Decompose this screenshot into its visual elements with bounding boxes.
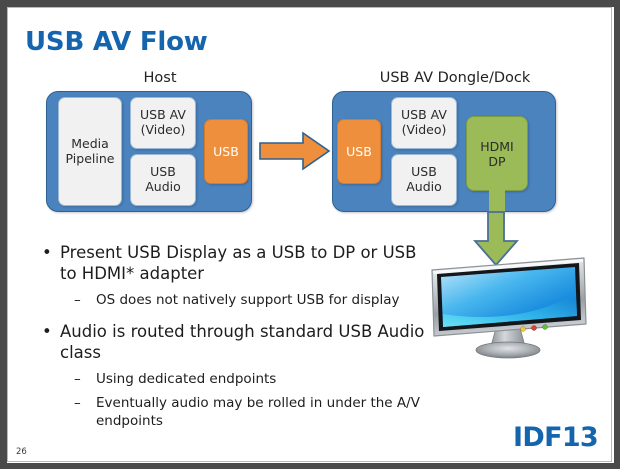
- bullet-dash-icon: –: [74, 395, 81, 413]
- dongle-av-line2: (Video): [402, 122, 447, 137]
- hdmi-line2: DP: [488, 154, 505, 169]
- hdmi-line1: HDMI: [480, 139, 514, 154]
- sub-bullet-2-2: – Eventually audio may be rolled in unde…: [36, 395, 426, 430]
- host-media-line1: Media: [71, 136, 109, 151]
- page-title: USB AV Flow: [25, 27, 208, 57]
- host-av-line2: (Video): [141, 122, 186, 137]
- dongle-block-hdmi-dp[interactable]: HDMI DP: [466, 116, 528, 191]
- bullet-item-1-text: Present USB Display as a USB to DP or US…: [60, 243, 416, 283]
- slide-number: 26: [16, 447, 27, 457]
- host-block-media-pipeline[interactable]: Media Pipeline: [58, 97, 122, 206]
- host-audio-line2: Audio: [145, 179, 181, 194]
- bullet-dot-icon: •: [42, 322, 52, 343]
- host-av-line1: USB AV: [140, 107, 186, 122]
- dongle-block-usb-port[interactable]: USB: [337, 119, 381, 184]
- bullet-item-2: • Audio is routed through standard USB A…: [36, 322, 426, 364]
- sub-bullet-2-1: – Using dedicated endpoints: [36, 371, 426, 389]
- host-to-dongle-arrow: [259, 130, 331, 172]
- dongle-audio-line2: Audio: [406, 179, 442, 194]
- host-label: Host: [110, 70, 210, 86]
- window-right-strip: [614, 7, 620, 469]
- bullet-dot-icon: •: [42, 243, 52, 264]
- bullet-dash-icon: –: [74, 371, 81, 389]
- window-left-strip: [0, 7, 7, 469]
- window-top-strip: [0, 0, 620, 7]
- host-block-usb-av-video[interactable]: USB AV (Video): [130, 97, 196, 149]
- sub-bullet-1-1: – OS does not natively support USB for d…: [36, 292, 426, 310]
- sub-bullet-2-2-text: Eventually audio may be rolled in under …: [96, 395, 420, 429]
- dongle-av-line1: USB AV: [401, 107, 447, 122]
- bullet-list: • Present USB Display as a USB to DP or …: [36, 243, 426, 430]
- bullet-dash-icon: –: [74, 292, 81, 310]
- sub-bullet-2-1-text: Using dedicated endpoints: [96, 371, 276, 387]
- bullet-item-2-text: Audio is routed through standard USB Aud…: [60, 322, 424, 362]
- host-block-usb-audio[interactable]: USB Audio: [130, 154, 196, 206]
- host-block-usb-port[interactable]: USB: [204, 119, 248, 184]
- host-media-line2: Pipeline: [66, 151, 115, 166]
- window-bottom-strip: [0, 463, 620, 469]
- bullet-item-1: • Present USB Display as a USB to DP or …: [36, 243, 426, 285]
- dongle-block-usb-audio[interactable]: USB Audio: [391, 154, 457, 206]
- dongle-block-usb-av-video[interactable]: USB AV (Video): [391, 97, 457, 149]
- bullet-spacer: [36, 309, 426, 322]
- sub-bullet-1-1-text: OS does not natively support USB for dis…: [96, 292, 399, 308]
- idf-logo: IDF13: [513, 422, 598, 453]
- slide-canvas: USB AV Flow Host USB AV Dongle/Dock Medi…: [0, 0, 620, 469]
- dongle-audio-line1: USB: [411, 164, 437, 179]
- dongle-label: USB AV Dongle/Dock: [350, 70, 560, 86]
- host-audio-line1: USB: [150, 164, 176, 179]
- display-monitor-icon: [424, 252, 592, 364]
